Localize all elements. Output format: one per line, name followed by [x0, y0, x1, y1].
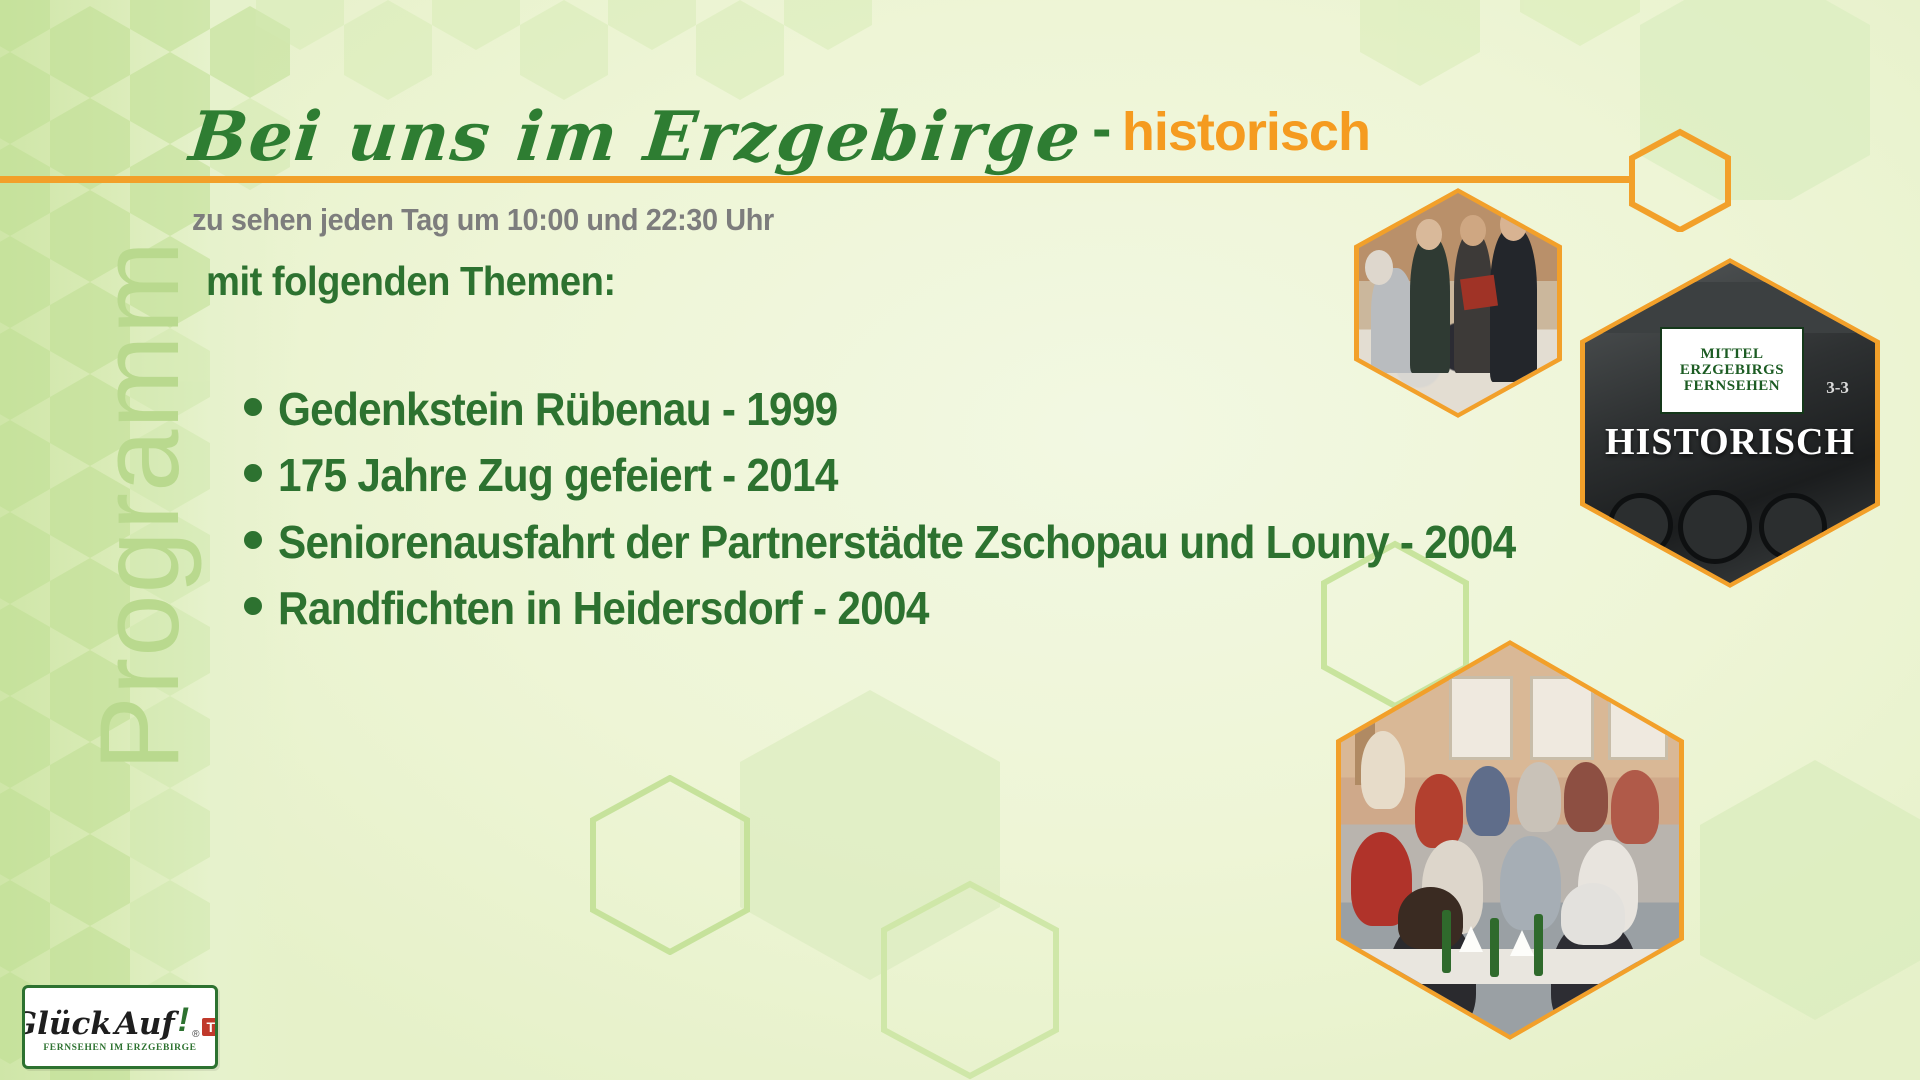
photo-steam-locomotive: 3-3 MITTEL ERZGEBIRGS FERNSEHEN HISTORIS… [1585, 263, 1875, 583]
photo-folder [1460, 274, 1498, 309]
logo-name-part1: Glück [22, 1009, 112, 1040]
list-item: Seniorenausfahrt der Partnerstädte Zscho… [244, 518, 1623, 566]
topics-intro-text: mit folgenden Themen: [206, 258, 616, 305]
page-title-dash: - [1086, 95, 1117, 162]
photo-wall-picture [1449, 676, 1512, 760]
page-title: Bei uns im Erzgebirge - historisch [190, 95, 1370, 177]
list-item-label: Randfichten in Heidersdorf - 2004 [278, 584, 929, 632]
brand-logo[interactable]: GlückAuf!® TV FERNSEHEN IM ERZGEBIRGE [22, 985, 218, 1069]
logo-exclaim: ! [178, 1001, 189, 1040]
photo-bottle [1534, 914, 1543, 976]
photo-hexagon-ceremony [1354, 188, 1562, 418]
header-hexagon-marker [1625, 128, 1735, 232]
decorative-hexagon-filled-right [1700, 760, 1920, 1020]
photo-person [1466, 766, 1510, 836]
page-title-script: Bei uns im Erzgebirge [186, 97, 1086, 177]
list-item-label: Gedenkstein Rübenau - 1999 [278, 385, 837, 433]
logo-registered-mark: ® [192, 1029, 199, 1040]
logo-wordmark: GlückAuf!® TV [22, 1001, 218, 1040]
bullet-dot-icon [244, 398, 262, 416]
channel-badge-line3: FERNSEHEN [1684, 379, 1780, 395]
locomotive-wheel [1678, 490, 1752, 564]
decorative-hexagon-outline-bottom [880, 880, 1060, 1080]
photo-hexagon-historisch: 3-3 MITTEL ERZGEBIRGS FERNSEHEN HISTORIS… [1580, 258, 1880, 588]
photo-person [1564, 762, 1608, 832]
photo-figure-head [1460, 215, 1486, 246]
logo-tagline: FERNSEHEN IM ERZGEBIRGE [43, 1043, 196, 1053]
photo-person [1517, 762, 1561, 832]
photo-person-head [1398, 887, 1462, 949]
photo-bottle [1442, 910, 1451, 972]
locomotive-number: 3-3 [1826, 378, 1849, 398]
photo-person [1361, 731, 1405, 809]
list-item: 175 Jahre Zug gefeiert - 2014 [244, 451, 1623, 499]
slide-canvas: Programm Bei uns im Erzgebirge - histori… [0, 0, 1920, 1080]
bullet-dot-icon [244, 464, 262, 482]
photo-wall-picture [1530, 676, 1593, 760]
list-item: Randfichten in Heidersdorf - 2004 [244, 584, 1623, 632]
bullet-dot-icon [244, 597, 262, 615]
photo-figure-head [1365, 250, 1393, 285]
photo-bottle [1490, 918, 1499, 977]
photo-person-head [1561, 883, 1625, 945]
photo-napkin [1510, 930, 1534, 956]
logo-name-part2: Auf [115, 1009, 175, 1040]
historisch-title: HISTORISCH [1585, 420, 1875, 464]
channel-badge-line2: ERZGEBIRGS [1680, 363, 1784, 379]
photo-figure [1410, 237, 1450, 373]
channel-badge: MITTEL ERZGEBIRGS FERNSEHEN [1660, 327, 1803, 414]
list-item-label: Seniorenausfahrt der Partnerstädte Zscho… [278, 518, 1515, 566]
photo-napkin [1459, 926, 1483, 952]
photo-ceremony [1359, 193, 1557, 413]
photo-person [1500, 836, 1561, 930]
photo-person [1611, 770, 1658, 844]
decorative-hexagon-outline-left [590, 775, 750, 955]
locomotive-roof [1585, 282, 1875, 333]
photo-person [1415, 774, 1462, 848]
list-item-label: 175 Jahre Zug gefeiert - 2014 [278, 451, 838, 499]
sidebar-vertical-label: Programm [84, 240, 196, 771]
photo-wall-picture [1608, 680, 1668, 760]
topics-list: Gedenkstein Rübenau - 1999 175 Jahre Zug… [244, 385, 1623, 650]
logo-tv-badge: TV [202, 1018, 218, 1036]
page-title-accent: historisch [1122, 101, 1370, 163]
broadcast-times-text: zu sehen jeden Tag um 10:00 und 22:30 Uh… [192, 202, 774, 238]
bullet-dot-icon [244, 531, 262, 549]
header-divider-rule [0, 176, 1632, 183]
channel-badge-line1: MITTEL [1700, 347, 1763, 363]
